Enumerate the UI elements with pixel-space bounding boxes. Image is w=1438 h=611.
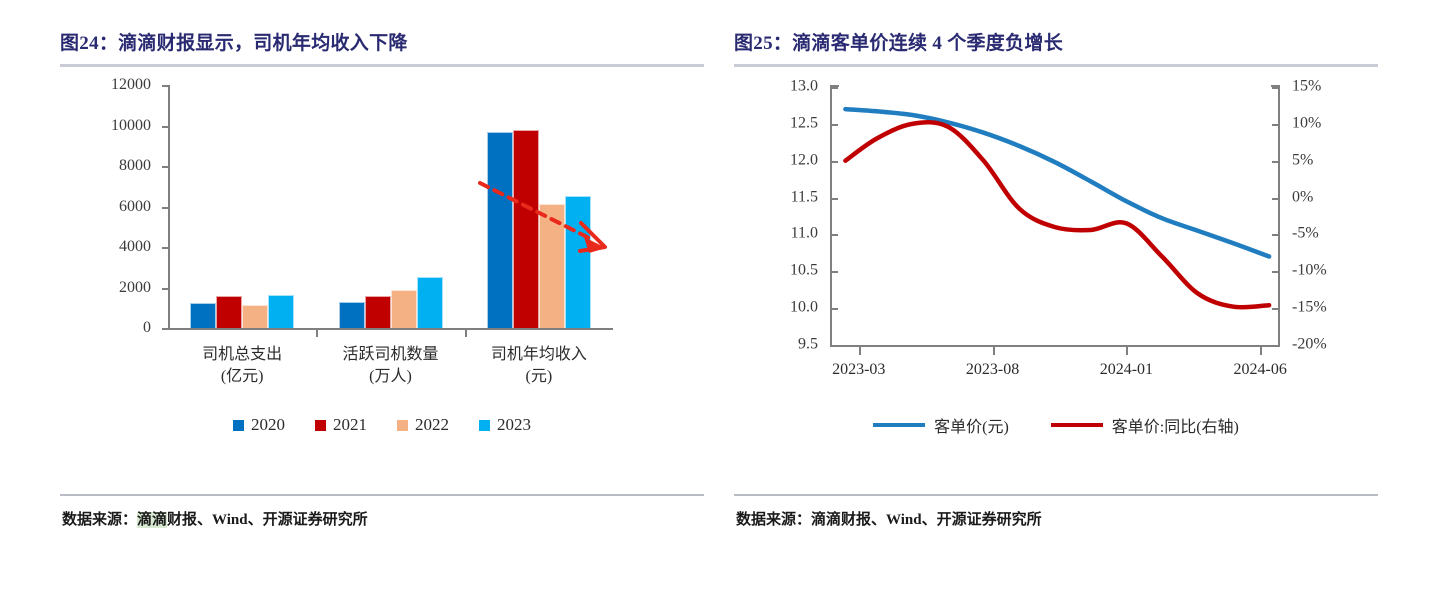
legend-label: 2020 bbox=[251, 415, 285, 435]
bar-x-tick bbox=[316, 329, 318, 337]
source-rest: 财报、Wind、开源证券研究所 bbox=[167, 512, 368, 528]
line-left-tick-label: 11.0 bbox=[791, 225, 818, 243]
bar-category-label: 司机年均收入(元) bbox=[491, 344, 587, 387]
line-left-tick-label: 10.0 bbox=[790, 299, 818, 317]
bar-2020 bbox=[190, 303, 216, 328]
bar-plot-area: 020004000600080001000012000司机总支出(亿元)活跃司机… bbox=[168, 85, 613, 330]
line-left-tick-label: 11.5 bbox=[791, 188, 818, 206]
line-right-tick bbox=[1272, 271, 1280, 273]
bar-y-tick-label: 4000 bbox=[119, 238, 151, 256]
bar-y-tick: 10000 bbox=[162, 126, 169, 128]
line-right-tick-label: 10% bbox=[1292, 114, 1321, 132]
bar-y-tick: 4000 bbox=[162, 247, 169, 249]
line-left-tick bbox=[830, 308, 838, 310]
line-series-svg bbox=[830, 85, 1280, 347]
bar-y-tick-label: 6000 bbox=[119, 197, 151, 215]
line-right-tick-label: -5% bbox=[1292, 225, 1319, 243]
figures-page: 图24：滴滴财报显示，司机年均收入下降 02000400060008000100… bbox=[0, 0, 1438, 611]
line-left-tick bbox=[830, 161, 838, 163]
bar-2023 bbox=[417, 277, 443, 328]
legend-label: 2021 bbox=[333, 415, 367, 435]
line-series-price bbox=[845, 109, 1269, 256]
bar-chart-legend: 2020202120222023 bbox=[60, 415, 704, 435]
legend-line-icon bbox=[1051, 423, 1103, 427]
bar-group bbox=[190, 85, 294, 328]
bar-2021 bbox=[216, 296, 242, 328]
figure-24-chart: 020004000600080001000012000司机总支出(亿元)活跃司机… bbox=[60, 75, 704, 475]
legend-swatch-icon bbox=[315, 420, 326, 431]
line-left-tick bbox=[830, 271, 838, 273]
line-right-tick-label: 5% bbox=[1292, 151, 1313, 169]
figure-24-source: 数据来源：滴滴财报、Wind、开源证券研究所 bbox=[62, 508, 368, 529]
line-right-tick-label: -20% bbox=[1292, 336, 1327, 354]
line-right-tick-label: -10% bbox=[1292, 262, 1327, 280]
bar-y-tick-label: 0 bbox=[143, 319, 151, 337]
bar-2021 bbox=[513, 130, 539, 328]
source-prefix: 数据来源： bbox=[736, 512, 811, 528]
bar-2023 bbox=[268, 295, 294, 328]
legend-item-2020[interactable]: 2020 bbox=[233, 415, 285, 435]
line-left-tick-label: 10.5 bbox=[790, 262, 818, 280]
line-x-tick bbox=[1260, 346, 1262, 355]
legend-swatch-icon bbox=[479, 420, 490, 431]
figure-25-chart: 9.510.010.511.011.512.012.513.0-20%-15%-… bbox=[734, 75, 1378, 475]
line-plot-area: 9.510.010.511.011.512.012.513.0-20%-15%-… bbox=[830, 85, 1280, 347]
bar-y-tick-label: 2000 bbox=[119, 278, 151, 296]
line-left-tick bbox=[830, 198, 838, 200]
bar-x-axis bbox=[168, 328, 613, 330]
line-x-tick bbox=[859, 346, 861, 355]
bar-y-tick: 12000 bbox=[162, 85, 169, 87]
line-left-tick-label: 9.5 bbox=[798, 336, 818, 354]
bar-2022 bbox=[242, 305, 268, 328]
line-x-tick-label: 2024-01 bbox=[1100, 361, 1153, 379]
line-left-tick bbox=[830, 234, 838, 236]
line-x-tick-label: 2023-03 bbox=[832, 361, 885, 379]
figure-25-title: 图25：滴滴客单价连续 4 个季度负增长 bbox=[734, 28, 1378, 64]
legend-swatch-icon bbox=[233, 420, 244, 431]
bar-2022 bbox=[391, 290, 417, 328]
legend-swatch-icon bbox=[397, 420, 408, 431]
source-prefix: 数据来源： bbox=[62, 512, 137, 528]
legend-item-price[interactable]: 客单价(元) bbox=[873, 413, 1009, 437]
bar-2020 bbox=[339, 302, 365, 328]
figure-24-title-rule bbox=[60, 64, 704, 67]
bar-category-label: 活跃司机数量(万人) bbox=[342, 344, 438, 387]
bar-y-tick-label: 8000 bbox=[119, 157, 151, 175]
source-rest: 滴滴财报、Wind、开源证券研究所 bbox=[811, 512, 1042, 528]
line-right-tick bbox=[1272, 124, 1280, 126]
line-left-tick bbox=[830, 124, 838, 126]
figure-24-source-rule bbox=[60, 494, 704, 496]
line-right-tick bbox=[1272, 234, 1280, 236]
line-right-tick-label: 0% bbox=[1292, 188, 1313, 206]
source-highlight: 滴滴 bbox=[137, 512, 167, 528]
bar-2020 bbox=[487, 132, 513, 328]
bar-group bbox=[339, 85, 443, 328]
line-right-tick bbox=[1272, 161, 1280, 163]
line-left-tick bbox=[830, 87, 838, 89]
bar-y-tick: 8000 bbox=[162, 166, 169, 168]
line-series-yoy bbox=[845, 122, 1269, 307]
line-right-tick-label: -15% bbox=[1292, 299, 1327, 317]
figure-24-title: 图24：滴滴财报显示，司机年均收入下降 bbox=[60, 28, 704, 64]
line-chart-legend: 客单价(元)客单价:同比(右轴) bbox=[734, 413, 1378, 437]
bar-x-tick bbox=[465, 329, 467, 337]
bar-2021 bbox=[365, 296, 391, 328]
line-left-tick-label: 12.5 bbox=[790, 114, 818, 132]
legend-label: 2023 bbox=[497, 415, 531, 435]
line-x-tick bbox=[1126, 346, 1128, 355]
legend-item-2021[interactable]: 2021 bbox=[315, 415, 367, 435]
legend-item-yoy[interactable]: 客单价:同比(右轴) bbox=[1051, 413, 1239, 437]
line-right-tick bbox=[1272, 87, 1280, 89]
legend-label: 客单价:同比(右轴) bbox=[1112, 413, 1239, 437]
line-x-tick-label: 2023-08 bbox=[966, 361, 1019, 379]
line-right-tick-label: 15% bbox=[1292, 78, 1321, 96]
figure-25-source: 数据来源：滴滴财报、Wind、开源证券研究所 bbox=[736, 508, 1042, 529]
legend-label: 客单价(元) bbox=[934, 413, 1009, 437]
bar-y-tick: 2000 bbox=[162, 288, 169, 290]
line-right-tick bbox=[1272, 308, 1280, 310]
bar-y-tick: 6000 bbox=[162, 207, 169, 209]
bar-group bbox=[487, 85, 591, 328]
legend-item-2023[interactable]: 2023 bbox=[479, 415, 531, 435]
bar-category-label: 司机总支出(亿元) bbox=[202, 344, 282, 387]
bar-y-tick: 0 bbox=[162, 328, 169, 330]
bar-2023 bbox=[565, 196, 591, 328]
figure-25-title-rule bbox=[734, 64, 1378, 67]
line-left-tick-label: 13.0 bbox=[790, 78, 818, 96]
line-right-tick bbox=[1272, 198, 1280, 200]
legend-item-2022[interactable]: 2022 bbox=[397, 415, 449, 435]
line-left-tick-label: 12.0 bbox=[790, 151, 818, 169]
legend-label: 2022 bbox=[415, 415, 449, 435]
bar-y-tick-label: 10000 bbox=[111, 116, 151, 134]
legend-line-icon bbox=[873, 423, 925, 427]
bar-2022 bbox=[539, 204, 565, 328]
bar-y-tick-label: 12000 bbox=[111, 76, 151, 94]
figure-25-source-rule bbox=[734, 494, 1378, 496]
figure-25-panel: 图25：滴滴客单价连续 4 个季度负增长 9.510.010.511.011.5… bbox=[734, 28, 1378, 548]
line-x-tick bbox=[993, 346, 995, 355]
line-x-tick-label: 2024-06 bbox=[1233, 361, 1286, 379]
figure-24-panel: 图24：滴滴财报显示，司机年均收入下降 02000400060008000100… bbox=[60, 28, 704, 548]
